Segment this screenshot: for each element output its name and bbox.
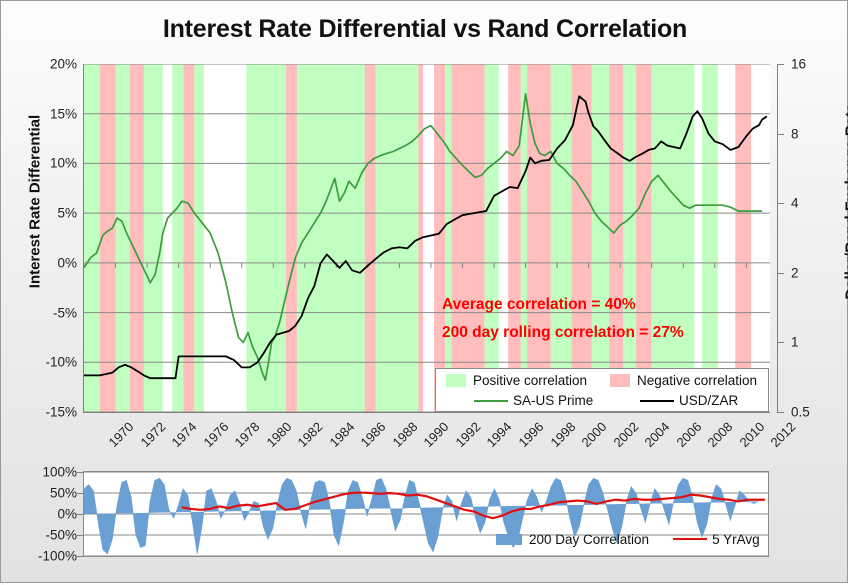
correlation-y-axis: 100%50%0%-50%-100% — [1, 471, 77, 557]
x-tick-label: 1992 — [452, 419, 483, 450]
correlation-y-tick-label: -50% — [45, 528, 77, 543]
x-tick-label: 2002 — [610, 419, 641, 450]
legend-label-5yravg: 5 YrAvg — [712, 532, 760, 547]
y-tick-mark-right — [777, 134, 784, 135]
y-axis-right-title: Dollar/Rand Exchange Rate — [843, 52, 848, 352]
x-tick-label: 2000 — [579, 419, 610, 450]
legend-item-200-day-correlation: 200 Day Correlation — [496, 532, 649, 547]
legend-item-usd-zar: USD/ZAR — [640, 393, 738, 408]
x-tick-label: 1980 — [263, 419, 294, 450]
y-tick-label-right: 1 — [791, 335, 799, 350]
y-tick-label-right: 4 — [791, 196, 799, 211]
right-axis-spine — [777, 64, 778, 412]
x-tick-label: 1972 — [137, 419, 168, 450]
x-tick-label: 2006 — [673, 419, 704, 450]
main-plot-svg — [84, 64, 770, 412]
legend-item-positive-correlation: Positive correlation — [446, 373, 606, 388]
x-tick-label: 2012 — [768, 419, 799, 450]
y-tick-label-left: -15% — [45, 405, 77, 420]
y-tick-mark-right — [777, 412, 784, 413]
x-tick-label: 1978 — [232, 419, 263, 450]
x-tick-label: 1970 — [105, 419, 136, 450]
correlation-legend: 200 Day Correlation 5 YrAvg — [496, 528, 768, 550]
legend-label-prime: SA-US Prime — [513, 393, 593, 408]
negative-band-swatch-icon — [610, 374, 630, 387]
correlation-y-tick-label: 0% — [57, 507, 77, 522]
x-tick-label: 1982 — [295, 419, 326, 450]
x-tick-label: 1986 — [358, 419, 389, 450]
correlation-plot-area: 200 Day Correlation 5 YrAvg — [83, 471, 769, 557]
y-tick-label-right: 8 — [791, 126, 799, 141]
y-tick-label-left: 10% — [50, 156, 77, 171]
y-tick-label-left: 5% — [57, 206, 77, 221]
y-tick-label-left: 20% — [50, 57, 77, 72]
x-tick-label: 1998 — [547, 419, 578, 450]
annotation-rolling-correlation: 200 day rolling correlation = 27% — [442, 324, 684, 342]
legend-item-5yravg: 5 YrAvg — [673, 532, 760, 547]
legend-label-negative: Negative correlation — [637, 373, 757, 388]
x-tick-label: 1974 — [169, 419, 200, 450]
main-chart: 20%15%10%5%0%-5%-10%-15% 1684210.5 Inter… — [1, 53, 848, 423]
y-tick-label-left: 0% — [57, 255, 77, 270]
avg-line-icon — [673, 538, 707, 540]
legend-item-sa-us-prime: SA-US Prime — [474, 393, 606, 408]
x-tick-label: 1984 — [326, 419, 357, 450]
main-legend: Positive correlation Negative correlatio… — [435, 368, 769, 412]
x-tick-label: 1976 — [200, 419, 231, 450]
x-tick-label: 1994 — [484, 419, 515, 450]
y-tick-mark-right — [777, 64, 784, 65]
x-tick-label: 2010 — [736, 419, 767, 450]
y-tick-label-left: 15% — [50, 106, 77, 121]
y-tick-mark-right — [777, 273, 784, 274]
y-tick-label-left: -10% — [45, 355, 77, 370]
x-tick-label: 1996 — [515, 419, 546, 450]
annotation-average-correlation: Average correlation = 40% — [442, 296, 636, 314]
y-tick-label-right: 2 — [791, 265, 799, 280]
chart-window: Interest Rate Differential vs Rand Corre… — [0, 0, 848, 583]
legend-item-negative-correlation: Negative correlation — [610, 373, 757, 388]
main-y-axis-right: 1684210.5 — [777, 64, 817, 412]
y-tick-mark-right — [777, 203, 784, 204]
correlation-y-tick-label: 50% — [50, 486, 77, 501]
correlation-chart: 100%50%0%-50%-100% 200 Day Correlation 5… — [1, 463, 848, 568]
prime-line-icon — [474, 400, 508, 402]
correlation-y-tick-label: -100% — [38, 549, 77, 564]
x-tick-label: 1988 — [389, 419, 420, 450]
x-tick-label: 2008 — [705, 419, 736, 450]
x-tick-label: 2004 — [642, 419, 673, 450]
usdzar-line-icon — [640, 400, 674, 402]
chart-title: Interest Rate Differential vs Rand Corre… — [1, 15, 848, 44]
legend-label-usdzar: USD/ZAR — [679, 393, 738, 408]
x-tick-label: 1990 — [421, 419, 452, 450]
correlation-area-swatch-icon — [496, 534, 522, 545]
y-tick-label-right: 16 — [791, 57, 806, 72]
main-plot-area — [83, 64, 770, 413]
legend-label-positive: Positive correlation — [473, 373, 587, 388]
y-tick-label-left: -5% — [53, 305, 77, 320]
y-tick-label-right: 0.5 — [791, 405, 810, 420]
y-tick-mark-right — [777, 342, 784, 343]
positive-band-swatch-icon — [446, 374, 466, 387]
y-axis-left-title: Interest Rate Differential — [27, 72, 44, 332]
correlation-y-tick-label: 100% — [42, 465, 77, 480]
legend-label-correlation: 200 Day Correlation — [529, 532, 649, 547]
